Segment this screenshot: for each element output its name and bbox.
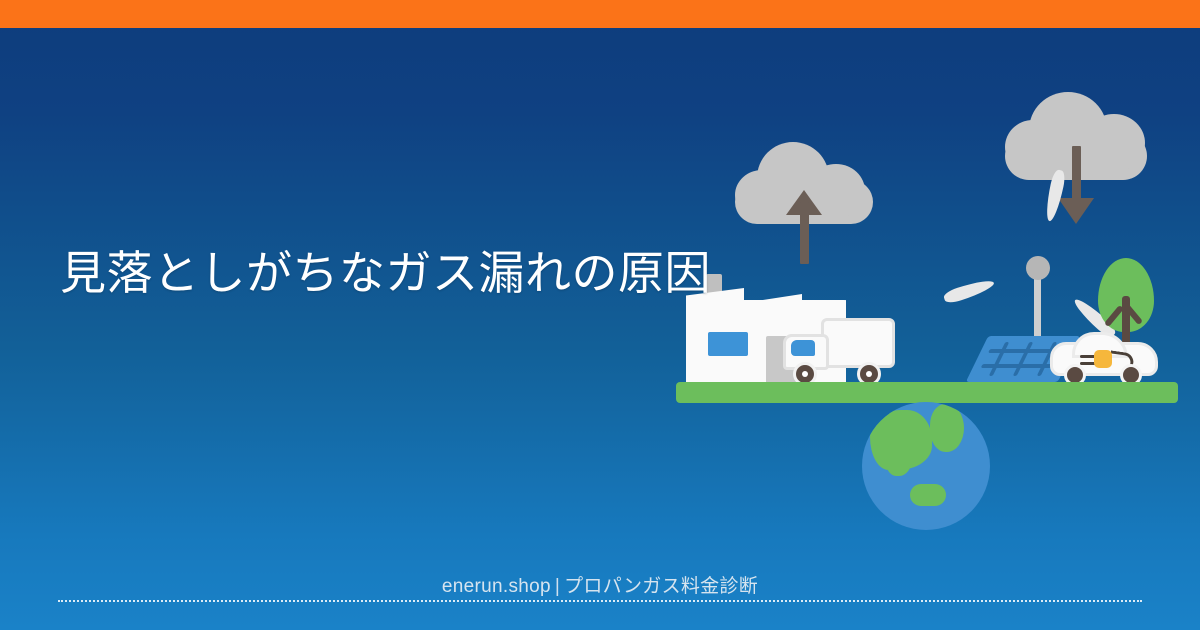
footer-separator: | [551,576,564,597]
page-title: 見落としがちなガス漏れの原因 [60,242,760,304]
footer-credit: enerun.shop|プロパンガス料金診断 [0,571,1200,598]
footer-tagline: プロパンガス料金診断 [564,576,758,597]
delivery-truck-icon [783,318,895,384]
ground-strip [676,382,1178,403]
earth-globe-icon [862,402,990,530]
electric-car-icon [1050,332,1158,384]
footer-divider [58,600,1142,602]
slide-canvas: 見落としがちなガス漏れの原因 enerun.shop|プロパンガス料金診断 [0,0,1200,630]
footer-site: enerun.shop [442,576,551,597]
wind-turbine-icon [990,222,1086,340]
illustration [0,0,1200,630]
